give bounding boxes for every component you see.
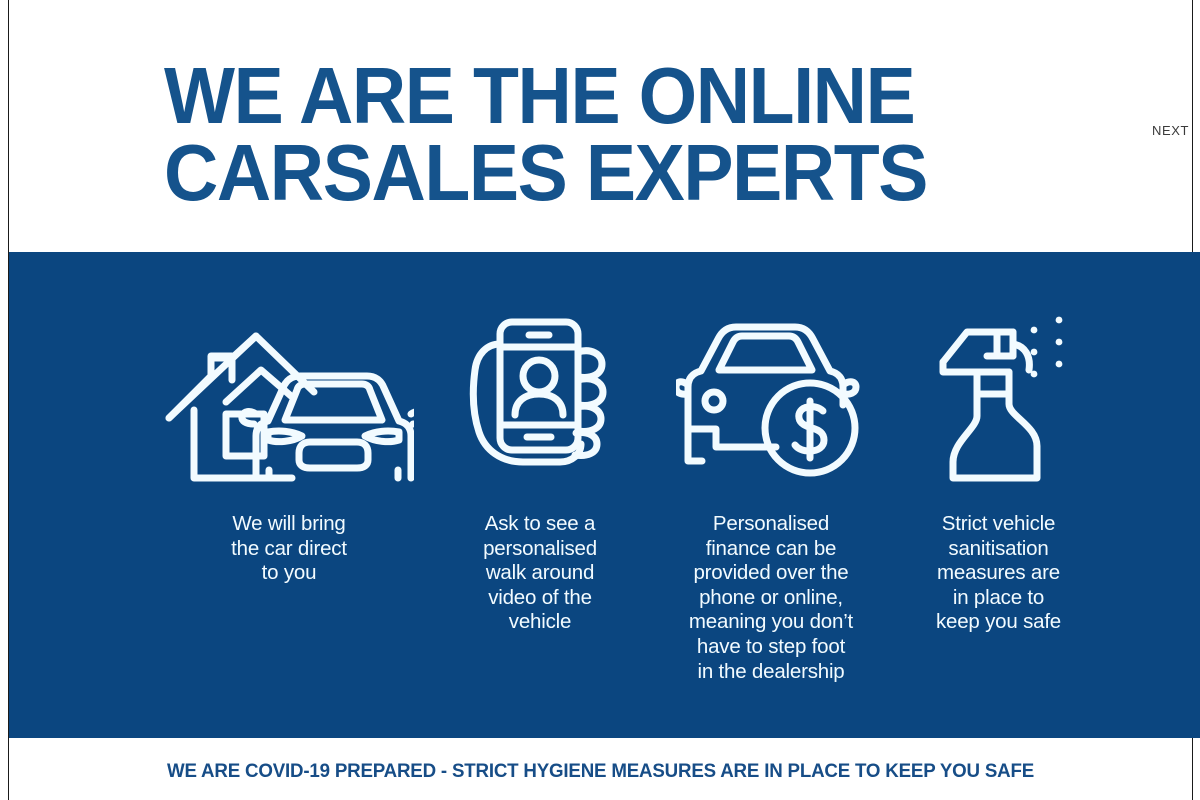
feature-caption: Strict vehicle sanitisation measures are…: [936, 512, 1061, 635]
covid-banner-text: WE ARE COVID-19 PREPARED - STRICT HYGIEN…: [33, 760, 1169, 783]
hand-phone-person-icon: [465, 300, 615, 500]
feature-column-sanitisation: Strict vehicle sanitisation measures are…: [891, 252, 1106, 635]
feature-column-finance: Personalised finance can be provided ove…: [651, 252, 891, 684]
next-button[interactable]: NEXT: [1152, 123, 1189, 138]
feature-caption: We will bring the car direct to you: [231, 512, 347, 586]
feature-caption: Personalised finance can be provided ove…: [689, 512, 853, 684]
feature-column-home-delivery: We will bring the car direct to you: [149, 252, 429, 586]
features-columns: We will bring the car direct to you: [9, 252, 1109, 738]
feature-caption: Ask to see a personalised walk around vi…: [483, 512, 597, 635]
feature-column-video-walkaround: Ask to see a personalised walk around vi…: [429, 252, 651, 635]
car-dollar-coin-icon: [676, 300, 866, 500]
header-section: WE ARE THE ONLINE CARSALES EXPERTS NEXT: [9, 0, 1192, 252]
page-title: WE ARE THE ONLINE CARSALES EXPERTS: [164, 58, 1029, 212]
spray-bottle-icon: [931, 300, 1066, 500]
footer-section: WE ARE COVID-19 PREPARED - STRICT HYGIEN…: [9, 738, 1192, 800]
house-car-icon: [164, 300, 414, 500]
promo-slide: WE ARE THE ONLINE CARSALES EXPERTS NEXT: [0, 0, 1200, 800]
features-panel: We will bring the car direct to you: [9, 252, 1200, 738]
